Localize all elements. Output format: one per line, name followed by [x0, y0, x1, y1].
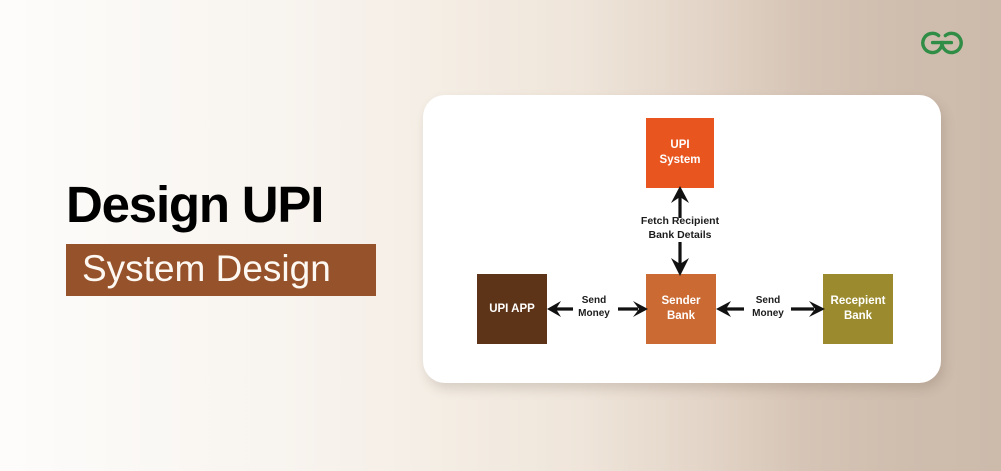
node-upi-system-label: UPI System [660, 138, 701, 167]
page-subtitle: System Design [82, 250, 360, 289]
arrow-up-icon [662, 186, 698, 218]
node-recepient-bank-label-line1: Recepient [831, 295, 886, 307]
edge-label-send-right-line2: Money [752, 308, 784, 319]
edge-label-send-money-right: Send Money [737, 294, 799, 320]
node-sender-bank-label: Sender Bank [662, 294, 701, 323]
node-sender-bank: Sender Bank [646, 274, 716, 344]
edge-label-fetch-line1: Fetch Recipient [641, 215, 719, 227]
upi-system-design-banner: Design UPI System Design UPI System UPI … [0, 0, 1001, 471]
node-upi-system-label-line1: UPI [670, 139, 689, 151]
node-recepient-bank: Recepient Bank [823, 274, 893, 344]
edge-label-send-right-line1: Send [756, 295, 780, 306]
edge-label-send-money-left: Send Money [563, 294, 625, 320]
node-recepient-bank-label: Recepient Bank [831, 294, 886, 323]
edge-label-send-left-line2: Money [578, 308, 610, 319]
edge-label-fetch-details: Fetch Recipient Bank Details [613, 215, 747, 242]
node-sender-bank-label-line2: Bank [667, 310, 695, 322]
headline-block: Design UPI System Design [66, 178, 396, 296]
arrow-down-icon [662, 242, 698, 276]
geeksforgeeks-logo [914, 21, 970, 63]
node-recepient-bank-label-line2: Bank [844, 310, 872, 322]
node-upi-app: UPI APP [477, 274, 547, 344]
edge-label-send-left-line1: Send [582, 295, 606, 306]
node-upi-app-label: UPI APP [489, 302, 535, 317]
page-title: Design UPI [66, 178, 396, 232]
node-upi-system-label-line2: System [660, 154, 701, 166]
node-upi-system: UPI System [646, 118, 714, 188]
edge-label-fetch-line2: Bank Details [648, 229, 711, 241]
node-sender-bank-label-line1: Sender [662, 295, 701, 307]
subtitle-badge: System Design [66, 244, 376, 297]
